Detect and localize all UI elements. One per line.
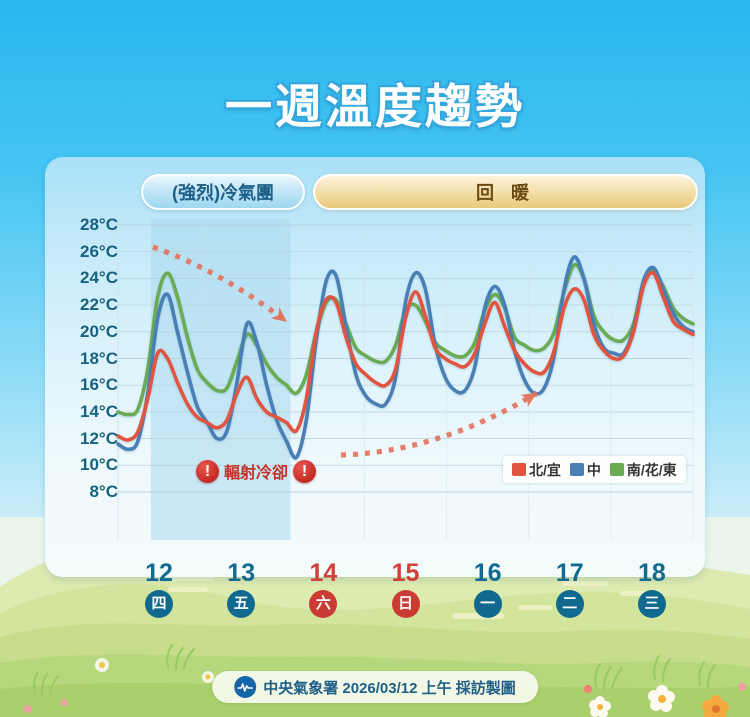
legend-swatch [512, 463, 526, 476]
x-axis-day-15: 15日 [376, 560, 436, 618]
temperature-chart [45, 157, 705, 577]
rising-trend-arrow [341, 387, 541, 455]
legend-item: 中 [570, 460, 601, 480]
y-axis-tick: 24°C [80, 268, 118, 288]
x-axis-day-16: 16一 [458, 560, 518, 618]
footer-text: 中央氣象署 2026/03/12 上午 採訪製圖 [263, 677, 516, 698]
y-axis-tick: 14°C [80, 402, 118, 422]
banner-warming: 回 暖 [313, 174, 698, 210]
x-axis-day-17: 17二 [540, 560, 600, 618]
legend-label: 北/宜 [529, 460, 561, 480]
legend-label: 中 [587, 460, 601, 480]
page-title: 一週溫度趨勢 [0, 68, 750, 137]
y-axis-tick: 16°C [80, 375, 118, 395]
weekday-badge: 五 [227, 590, 255, 618]
day-number: 12 [129, 560, 189, 587]
weekday-badge: 二 [556, 590, 584, 618]
y-axis-tick: 18°C [80, 349, 118, 369]
day-number: 18 [622, 560, 682, 587]
weekday-badge: 四 [145, 590, 173, 618]
banner-cold-air-mass: (強烈)冷氣團 [141, 174, 305, 210]
day-number: 16 [458, 560, 518, 587]
weekday-badge: 三 [638, 590, 666, 618]
legend-label: 南/花/東 [627, 460, 677, 480]
weekday-badge: 六 [309, 590, 337, 618]
x-axis-day-18: 18三 [622, 560, 682, 618]
x-axis-day-13: 13五 [211, 560, 271, 618]
y-axis-tick: 10°C [80, 455, 118, 475]
day-number: 17 [540, 560, 600, 587]
weekday-badge: 日 [392, 590, 420, 618]
y-axis-tick: 8°C [89, 482, 118, 502]
y-axis-tick: 28°C [80, 215, 118, 235]
chart-legend: 北/宜中南/花/東 [503, 456, 686, 483]
legend-swatch [570, 463, 584, 476]
x-axis-day-14: 14六 [293, 560, 353, 618]
legend-item: 北/宜 [512, 460, 561, 480]
day-number: 14 [293, 560, 353, 587]
footer-credit: 中央氣象署 2026/03/12 上午 採訪製圖 [212, 671, 538, 703]
day-number: 15 [376, 560, 436, 587]
warning-icon: ! [196, 460, 219, 483]
legend-swatch [610, 463, 624, 476]
radiation-cooling-label: 輻射冷卻 [224, 459, 288, 483]
radiation-cooling-annotation: ! 輻射冷卻 ! [196, 459, 316, 483]
y-axis-tick: 20°C [80, 322, 118, 342]
cwa-logo-icon [234, 676, 256, 698]
weekday-badge: 一 [474, 590, 502, 618]
y-axis-tick: 12°C [80, 429, 118, 449]
x-axis-day-12: 12四 [129, 560, 189, 618]
y-axis-tick: 22°C [80, 295, 118, 315]
y-axis-tick: 26°C [80, 242, 118, 262]
warning-icon: ! [293, 460, 316, 483]
legend-item: 南/花/東 [610, 460, 677, 480]
y-axis: 28°C26°C24°C22°C20°C18°C16°C14°C12°C10°C… [45, 157, 118, 577]
day-number: 13 [211, 560, 271, 587]
